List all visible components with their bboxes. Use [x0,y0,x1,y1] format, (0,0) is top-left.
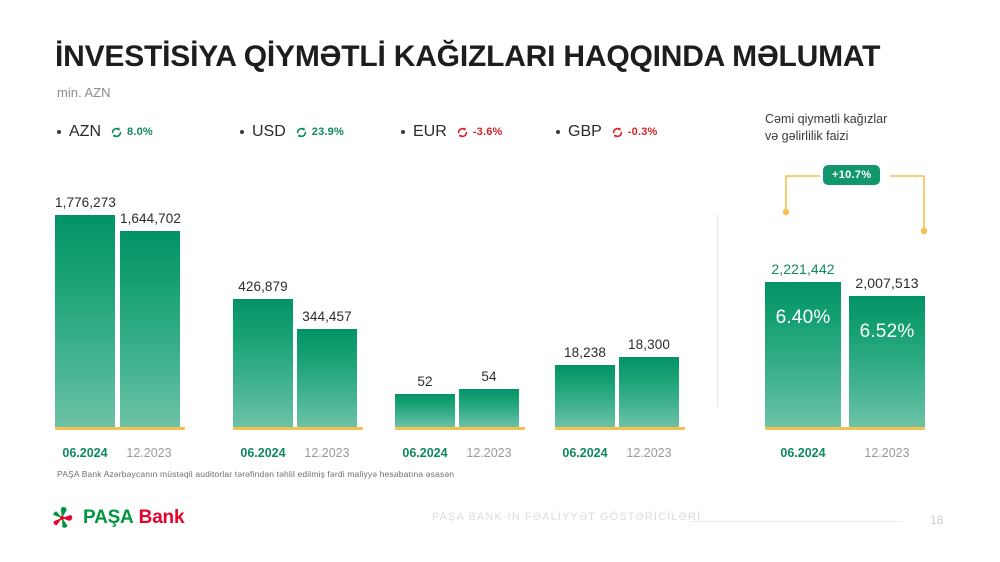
caption-line-2: və gəlirlilik faizi [765,128,955,145]
bar-rect[interactable] [55,215,115,427]
bullet-icon [57,130,61,134]
bar-item-usd-current[interactable]: 426,879 [233,279,293,427]
footer-caption: PAŞA BANK-IN FƏALİYYƏT GÖSTƏRİCİLƏRİ [432,511,701,523]
yield-percent-label: 6.40% [765,307,841,329]
bar-item-usd-previous[interactable]: 344,457 [297,309,357,427]
x-label-current: 06.2024 [395,446,455,460]
yield-percent-label: 6.52% [849,321,925,343]
x-label-current: 06.2024 [233,446,293,460]
page-footer: PAŞA Bank PAŞA BANK-IN FƏALİYYƏT GÖSTƏRİ… [0,498,1000,548]
page-number: 18 [930,513,943,527]
legend-change: -3.6% [473,126,503,138]
refresh-arrows-icon [456,126,469,139]
total-securities-caption: Cəmi qiymətli kağızlar və gəlirlilik fai… [765,111,955,145]
group-baseline [233,427,363,430]
bar-item-gbp-previous[interactable]: 18,300 [619,337,679,427]
legend-item-eur[interactable]: EUR -3.6% [401,120,503,144]
footnote-text: PAŞA Bank Azərbaycanın müstəqil auditorl… [57,469,454,479]
bullet-icon [240,130,244,134]
bar-value-label: 52 [417,374,432,389]
bar-rect[interactable] [297,329,357,427]
pasa-bank-logo[interactable]: PAŞA Bank [50,506,184,530]
bar-value-label: 18,300 [628,337,670,352]
bar-rect[interactable]: 6.40% [765,282,841,427]
bar-group-gbp: 18,238 18,300 06.2024 12.2023 [555,182,685,430]
bar-rect[interactable] [233,299,293,427]
bar-value-label: 344,457 [302,309,352,324]
bar-rect[interactable] [459,389,519,427]
bar-chart: 1,776,273 1,644,702 06.2024 12.2023 426,… [0,160,1000,430]
bar-rect[interactable] [619,357,679,427]
bar-item-gbp-current[interactable]: 18,238 [555,345,615,427]
bar-value-label: 1,644,702 [120,211,181,226]
bar-value-label: 2,221,442 [771,261,834,277]
legend-label: EUR [413,123,447,141]
refresh-arrows-icon [295,126,308,139]
x-label-previous: 12.2023 [849,446,925,460]
bar-value-label: 426,879 [238,279,288,294]
legend-change: -0.3% [628,126,658,138]
legend-label: AZN [69,123,101,141]
x-label-current: 06.2024 [55,446,115,460]
pasa-pinwheel-logo-icon [50,506,74,530]
bar-value-label: 2,007,513 [855,275,918,291]
x-label-previous: 12.2023 [459,446,519,460]
group-baseline [395,427,525,430]
legend-label: USD [252,123,286,141]
caption-line-1: Cəmi qiymətli kağızlar [765,111,955,128]
x-label-previous: 12.2023 [119,446,179,460]
bar-rect[interactable] [120,231,180,427]
bar-value-label: 18,238 [564,345,606,360]
bar-rect[interactable] [395,394,455,427]
legend-change: 23.9% [312,126,344,138]
currency-legend: AZN 8.0% USD 23.9% EUR [57,120,677,144]
bar-item-eur-current[interactable]: 52 [395,374,455,427]
refresh-arrows-icon [110,126,123,139]
slide-root: İNVESTİSİYA QİYMƏTLİ KAĞIZLARI HAQQINDA … [0,0,1000,562]
x-label-current: 06.2024 [765,446,841,460]
x-label-previous: 12.2023 [297,446,357,460]
page-subtitle: min. AZN [57,85,110,100]
x-label-current: 06.2024 [555,446,615,460]
logo-text-bank: Bank [139,507,185,528]
group-baseline [55,427,185,430]
legend-change: 8.0% [127,126,153,138]
legend-item-usd[interactable]: USD 23.9% [240,120,344,144]
legend-item-azn[interactable]: AZN 8.0% [57,120,153,144]
bar-rect[interactable]: 6.52% [849,296,925,427]
group-baseline [765,427,925,430]
bar-value-label: 1,776,273 [55,195,116,210]
bar-group-eur: 52 54 06.2024 12.2023 [395,182,525,430]
bar-item-eur-previous[interactable]: 54 [459,369,519,427]
bar-item-azn-current[interactable]: 1,776,273 [55,195,116,427]
bar-item-total-current[interactable]: 2,221,442 6.40% [765,261,841,427]
bar-item-total-previous[interactable]: 2,007,513 6.52% [849,275,925,427]
bar-group-total: 2,221,442 6.40% 2,007,513 6.52% 06.2024 … [765,182,925,430]
legend-label: GBP [568,123,602,141]
bar-rect[interactable] [555,365,615,427]
bar-item-azn-previous[interactable]: 1,644,702 [120,211,181,427]
bar-group-usd: 426,879 344,457 06.2024 12.2023 [233,182,363,430]
x-label-previous: 12.2023 [619,446,679,460]
group-baseline [555,427,685,430]
bullet-icon [401,130,405,134]
logo-text-pasa: PAŞA [83,507,134,528]
bar-value-label: 54 [481,369,496,384]
page-title: İNVESTİSİYA QİYMƏTLİ KAĞIZLARI HAQQINDA … [55,40,880,74]
footer-divider [690,521,903,522]
legend-item-gbp[interactable]: GBP -0.3% [556,120,658,144]
bullet-icon [556,130,560,134]
bar-group-azn: 1,776,273 1,644,702 06.2024 12.2023 [55,182,185,430]
refresh-arrows-icon [611,126,624,139]
